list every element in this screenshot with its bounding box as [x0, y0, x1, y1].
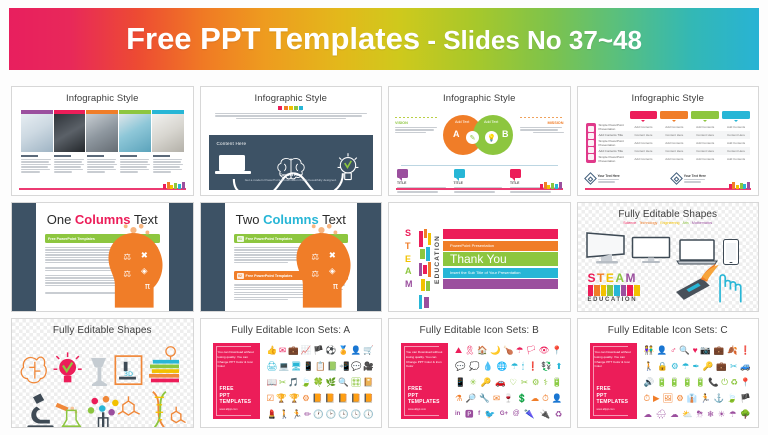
lightbulb-icon: [54, 352, 82, 382]
caption-block: [153, 155, 184, 173]
svg-text:✖: ✖: [140, 251, 147, 261]
table-row: Add Contents Title Content Here Content …: [599, 147, 751, 155]
table-cell: Content Here: [660, 133, 688, 137]
printer-icon: [588, 126, 594, 132]
note-heading: Your Text Here: [684, 174, 706, 178]
banner-title-sub: - Slides No 37~48: [420, 25, 642, 55]
slide-footer-bar: [396, 188, 563, 191]
steam-logo-letters: STEAM: [588, 272, 640, 284]
card-top-text: You can Download without losing quality.…: [406, 350, 443, 369]
molecule-icon: [88, 396, 119, 428]
table-cell: Add Contents: [691, 141, 719, 145]
table-body: Simple PowerPoint Presentation Add Conte…: [599, 123, 751, 163]
band-number: 02: [237, 273, 244, 279]
svg-text:3D: 3D: [124, 370, 133, 378]
chart-icon: [588, 147, 594, 153]
table-row: Simple PowerPoint Presentation Add Conte…: [599, 155, 751, 163]
band-number: 01: [237, 236, 244, 242]
icon-row-green: 🔊🔋🔋🔋🔋📞⏻♻📍: [644, 378, 752, 387]
card-line-1: FREE: [220, 386, 252, 393]
row-label: Add Contents Title: [599, 133, 627, 137]
bar-orange: PowerPoint Presentation: [443, 241, 558, 251]
allppt-logo-icon: [729, 182, 750, 189]
card-line-2: PPT: [220, 393, 252, 400]
table-cell: Add Contents: [691, 157, 719, 161]
table-cell: Content Here: [691, 133, 719, 137]
card-url: www.allppt.com: [597, 408, 629, 411]
caption-sub: Get a modern PowerPoint Presentation tha…: [209, 178, 374, 182]
card-line-2: PPT: [408, 393, 440, 400]
table-cell: Content Here: [630, 133, 658, 137]
head-silhouette-icon: ⚖✖ ⚖◈ π: [292, 222, 354, 308]
svg-text:⚖: ⚖: [311, 253, 319, 263]
svg-text:⚖: ⚖: [123, 270, 131, 280]
svg-text:✖: ✖: [329, 251, 336, 261]
slide-thumbnail-4[interactable]: Infographic Style Text Here Text Here Te…: [577, 86, 760, 196]
table-header-cell: Text Here: [660, 111, 688, 119]
svg-text:π: π: [333, 282, 338, 292]
band-label: Free PowerPoint Templates: [48, 237, 95, 241]
banner-title: Free PPT Templates - Slides No 37~48: [126, 21, 642, 57]
footnote-label: TITLE: [454, 181, 506, 185]
desk-lamp-icon: [91, 358, 107, 386]
table-cell: Add Contents: [722, 141, 750, 145]
imac-icon: [586, 231, 626, 265]
slide-thumbnail-1[interactable]: Infographic Style: [11, 86, 194, 196]
icon-row-cyan: 💬💭💧🌐☂🕯❗💱⬆: [455, 362, 563, 371]
svg-text:◈: ◈: [329, 267, 336, 277]
brain-icon: [21, 357, 46, 383]
slide-8-title: Fully Editable Shapes: [578, 203, 759, 220]
row-label: Simple PowerPoint Presentation: [599, 139, 627, 147]
mission-label: MISSION: [520, 121, 564, 125]
device-row: [586, 229, 751, 265]
grid-icon: [588, 154, 594, 160]
header-banner: Free PPT Templates - Slides No 37~48: [9, 8, 759, 70]
slide-10-title: Fully Editable Icon Sets: A: [201, 319, 382, 336]
lead-paragraph: [215, 113, 368, 119]
vision-block: VISION: [395, 117, 439, 133]
free-ppt-card: You can Download without losing quality.…: [401, 343, 448, 419]
lightbulb-icon: 💡: [485, 131, 498, 144]
row-label: Simple PowerPoint Presentation: [599, 155, 627, 163]
band-label: Free PowerPoint Templates: [246, 237, 293, 241]
table-cell: Add Contents: [630, 157, 658, 161]
icon-grid: 👫👤♂🔍♥📷💼🍂❗ 🚶🔒⚙☂✒🔑💼✂🚙 🔊🔋🔋🔋🔋📞⏻♻📍 ⏱▶🖼⚙👔🏃⚓🍃🏴 …: [644, 346, 752, 418]
word-engineering: Engineering: [660, 221, 679, 225]
word-arts: Arts: [682, 221, 688, 225]
card-top-text: You can Download without losing quality.…: [595, 350, 632, 369]
caption-block: [21, 155, 52, 173]
diamond-icon: [584, 172, 597, 185]
svg-text:⚖: ⚖: [311, 270, 319, 280]
printer-3d-icon: 3D: [115, 356, 141, 384]
icon-row-cyan: 🖨💻🖥📱📋📗📲💬🎥: [267, 362, 375, 371]
card-line-2: PPT: [597, 393, 629, 400]
head-silhouette-icon: ⚖✖ ⚖◈ π: [104, 222, 166, 308]
table-cell: Content Here: [660, 149, 688, 153]
card-url: www.allppt.com: [408, 408, 440, 411]
free-ppt-card: You can Download without losing quality.…: [213, 343, 260, 419]
table-row: Simple PowerPoint Presentation Add Conte…: [599, 123, 751, 131]
icon-row-orange: ☑🏆🏆⚙📙📙📙📙📙: [267, 394, 375, 403]
slide-9-title: Fully Editable Shapes: [12, 319, 193, 336]
circle-a-letter: A: [453, 129, 460, 139]
photo-column: [21, 110, 53, 152]
table-cell: Content Here: [630, 149, 658, 153]
slide-12-title: Fully Editable Icon Sets: C: [578, 319, 759, 336]
screenshot-root: Free PPT Templates - Slides No 37~48 Inf…: [0, 0, 768, 435]
table-cell: Content Here: [722, 133, 750, 137]
svg-text:◈: ◈: [141, 267, 148, 277]
table-cell: Add Contents: [722, 125, 750, 129]
chemistry-icon: [118, 396, 140, 415]
slide-thumbnail-6[interactable]: Two Columns Text 01 Free PowerPoint Temp…: [200, 202, 383, 312]
slide-thumbnail-11[interactable]: Fully Editable Icon Sets: B You can Down…: [388, 318, 571, 428]
pencil-icon: ✎: [466, 131, 479, 144]
table-cell: Add Contents: [660, 157, 688, 161]
card-line-3: TEMPLATES: [408, 399, 440, 406]
slide-11-title: Fully Editable Icon Sets: B: [389, 319, 570, 336]
speech-bubble-icon: [454, 169, 465, 178]
chemistry-icon: [172, 407, 186, 423]
steam-letter: A: [405, 267, 419, 276]
card-url: www.allppt.com: [220, 408, 252, 411]
circle-b-letter: B: [502, 129, 509, 139]
books-icon: [149, 347, 179, 383]
page-area: One Columns Text Free PowerPoint Templat…: [36, 203, 169, 311]
card-line-3: TEMPLATES: [597, 399, 629, 406]
page-area: Two Columns Text 01 Free PowerPoint Temp…: [225, 203, 358, 311]
icon-row-green: 📱✳🔑🚗♡✂⚙⚕🔋: [455, 378, 563, 387]
photo-captions: [21, 155, 184, 173]
tablet-and-hand-icon: [672, 261, 750, 305]
bar-pink: [443, 229, 558, 239]
panel-caption: Content Here Get a modern PowerPoint Pre…: [209, 173, 374, 183]
photo-strip: [21, 110, 184, 152]
education-label-vertical: EDUCATION: [432, 229, 443, 289]
table-cell: Add Contents: [630, 125, 658, 129]
allppt-logo-icon: [540, 182, 561, 189]
speech-bubble-icon: [510, 169, 521, 178]
microscope-icon: [27, 394, 53, 428]
card-line-1: FREE: [597, 386, 629, 393]
table-header-row: Text Here Text Here Text Here Text Here: [630, 111, 751, 119]
color-bars: PowerPoint Presentation Thank You Insert…: [443, 229, 558, 289]
table-cell: Content Here: [691, 149, 719, 153]
photo-column: [54, 110, 86, 152]
icon-row-orange: ⚗🔎🔧✉🍷💲☁⏱👤: [455, 394, 563, 403]
table-cell: Content Here: [722, 149, 750, 153]
steam-logo-blocks-icon: [588, 285, 640, 296]
photo-column: [152, 110, 184, 152]
icon-row-pink: 👫👤♂🔍♥📷💼🍂❗: [644, 346, 752, 355]
speech-bubble-icon: [397, 169, 408, 178]
education-label: EDUCATION: [434, 235, 441, 284]
card-bottom-text: FREE PPT TEMPLATES www.allppt.com: [220, 386, 252, 411]
word-mathematics: Mathematics: [692, 221, 712, 225]
bar-cyan: Insert the Sub Title of Your Presentatio…: [443, 268, 558, 278]
laptop-icon: [219, 155, 245, 171]
slide-thumbnail-5[interactable]: One Columns Text Free PowerPoint Templat…: [11, 202, 194, 312]
card-bottom-text: FREE PPT TEMPLATES www.allppt.com: [597, 386, 629, 411]
flask-icon: [60, 410, 82, 428]
thank-you-layout: S T E A M: [405, 229, 558, 289]
slide-3-title: Infographic Style: [389, 87, 570, 104]
monitor-icon: [588, 133, 594, 139]
card-top-text: You can Download without losing quality.…: [218, 350, 255, 369]
dot-row: [201, 106, 382, 110]
icon-row-pink: ⛰🎗🏠🌙🍗☂🏳👁📍: [455, 346, 563, 355]
table-cell: Add Contents: [660, 141, 688, 145]
timeline-axis: [401, 165, 558, 166]
row-label: Simple PowerPoint Presentation: [599, 123, 627, 131]
allppt-logo-icon: [163, 182, 184, 189]
diamond-icon: [670, 172, 683, 185]
svg-text:⚖: ⚖: [123, 253, 131, 263]
table-row: Simple PowerPoint Presentation Add Conte…: [599, 139, 751, 147]
table-header-cell: Text Here: [630, 111, 658, 119]
slide-1-title: Infographic Style: [12, 87, 193, 104]
slide-2-title: Infographic Style: [201, 87, 382, 104]
footnote-label: TITLE: [397, 181, 449, 185]
card-bottom-text: FREE PPT TEMPLATES www.allppt.com: [408, 386, 440, 411]
photo-column: [86, 110, 118, 152]
free-ppt-card: You can Download without losing quality.…: [590, 343, 637, 419]
icon-row-purple: ☁🌧☁⛅⛈❄☀☂🌳: [644, 410, 752, 419]
circle-b-tag: Add Text: [484, 120, 498, 124]
steam-words: Science Technology Engineering Arts Math…: [578, 221, 759, 225]
slide-thumbnail-2[interactable]: Infographic Style Content Here: [200, 86, 383, 196]
svg-text:π: π: [144, 282, 149, 292]
slide-thumbnail-3[interactable]: Infographic Style VISION MISSION Add Tex…: [388, 86, 571, 196]
band-label: Free PowerPoint Templates: [246, 274, 293, 278]
caption-block: [120, 155, 151, 173]
row-label: Add Contents Title: [599, 149, 627, 153]
card-line-1: FREE: [408, 386, 440, 393]
word-science: Science: [623, 221, 636, 225]
icon-row-purple: in🅿f🐦G+@🌂🔌♻: [455, 410, 563, 419]
dna-icon: [153, 392, 166, 428]
steam-letter: E: [405, 255, 419, 264]
word-technology: Technology: [639, 221, 657, 225]
banner-title-main: Free PPT Templates: [126, 21, 420, 56]
slide-grid: Infographic Style: [11, 86, 759, 428]
icon-row-orange: ⏱▶🖼⚙👔🏃⚓🍃🏴: [644, 394, 752, 403]
tool-icon: [588, 140, 594, 146]
slide-4-title: Infographic Style: [578, 87, 759, 104]
science-shapes-group: 3D: [18, 343, 186, 428]
table-notes: Your Text Here Your Text Here: [586, 174, 751, 183]
venn-diagram: VISION MISSION Add Text Add Text A B ✎ 💡: [389, 109, 570, 161]
steam-letters: S T E A M: [405, 229, 419, 289]
steam-logo: STEAM EDUCATION: [588, 272, 640, 304]
table-row: Add Contents Title Content Here Content …: [599, 131, 751, 139]
slide-thumbnail-7[interactable]: S T E A M: [388, 202, 571, 312]
title-part: One: [47, 212, 75, 227]
steam-letter: T: [405, 242, 419, 251]
steam-letter: S: [405, 229, 419, 238]
steam-logo-sub: EDUCATION: [588, 297, 640, 303]
steam-letter: M: [405, 280, 419, 289]
note-block: Your Text Here: [586, 174, 664, 183]
bar-purple: [443, 279, 558, 289]
steam-block-pattern-icon: [419, 229, 432, 289]
caption-title: Content Here: [209, 173, 374, 177]
bar-text: PowerPoint Presentation: [450, 243, 494, 248]
mission-block: MISSION: [520, 117, 564, 133]
monitor-icon: [631, 236, 671, 265]
caption-block: [54, 155, 85, 173]
icon-row-purple: 💄🚶🏃✏🕐🕑🕒🕓🕔: [267, 410, 375, 419]
bar-text: Insert the Sub Title of Your Presentatio…: [450, 270, 521, 275]
icon-grid: ⛰🎗🏠🌙🍗☂🏳👁📍 💬💭💧🌐☂🕯❗💱⬆ 📱✳🔑🚗♡✂⚙⚕🔋 ⚗🔎🔧✉🍷💲☁⏱👤 …: [455, 346, 563, 418]
icon-row-pink: 👍✉💼📈🏴⚽🏅👤🛒: [267, 346, 375, 355]
table-cell: Add Contents: [722, 157, 750, 161]
slide-footer-bar: [585, 188, 752, 191]
note-heading: Your Text Here: [598, 174, 620, 178]
slide-thumbnail-8[interactable]: Fully Editable Shapes Science Technology…: [577, 202, 760, 312]
circle-a-tag: Add Text: [455, 120, 469, 124]
caption-block: [87, 155, 118, 173]
vision-label: VISION: [395, 121, 439, 125]
card-line-3: TEMPLATES: [220, 399, 252, 406]
slide-thumbnail-10[interactable]: Fully Editable Icon Sets: A You can Down…: [200, 318, 383, 428]
thank-you-text: Thank You: [450, 252, 507, 266]
title-part: Two: [236, 212, 263, 227]
bar-green: Thank You: [443, 252, 558, 266]
photo-column: [119, 110, 151, 152]
table-header-cell: Text Here: [691, 111, 719, 119]
slide-thumbnail-12[interactable]: Fully Editable Icon Sets: C You can Down…: [577, 318, 760, 428]
slide-footer-bar: [19, 188, 186, 191]
table-cell: Add Contents: [691, 125, 719, 129]
table-cell: Add Contents: [660, 125, 688, 129]
icon-row-green: 📖✂🎵🍃🍀🌿🔍🎛📔: [267, 378, 375, 387]
icon-grid: 👍✉💼📈🏴⚽🏅👤🛒 🖨💻🖥📱📋📗📲💬🎥 📖✂🎵🍃🍀🌿🔍🎛📔 ☑🏆🏆⚙📙📙📙📙📙 …: [267, 346, 375, 418]
table-cell: Add Contents: [630, 141, 658, 145]
icon-row-cyan: 🚶🔒⚙☂✒🔑💼✂🚙: [644, 362, 752, 371]
table-header-cell: Text Here: [722, 111, 750, 119]
icon-rail: [586, 123, 596, 163]
dark-panel: Content Here: [209, 135, 374, 190]
slide-thumbnail-9[interactable]: Fully Editable Shapes: [11, 318, 194, 428]
